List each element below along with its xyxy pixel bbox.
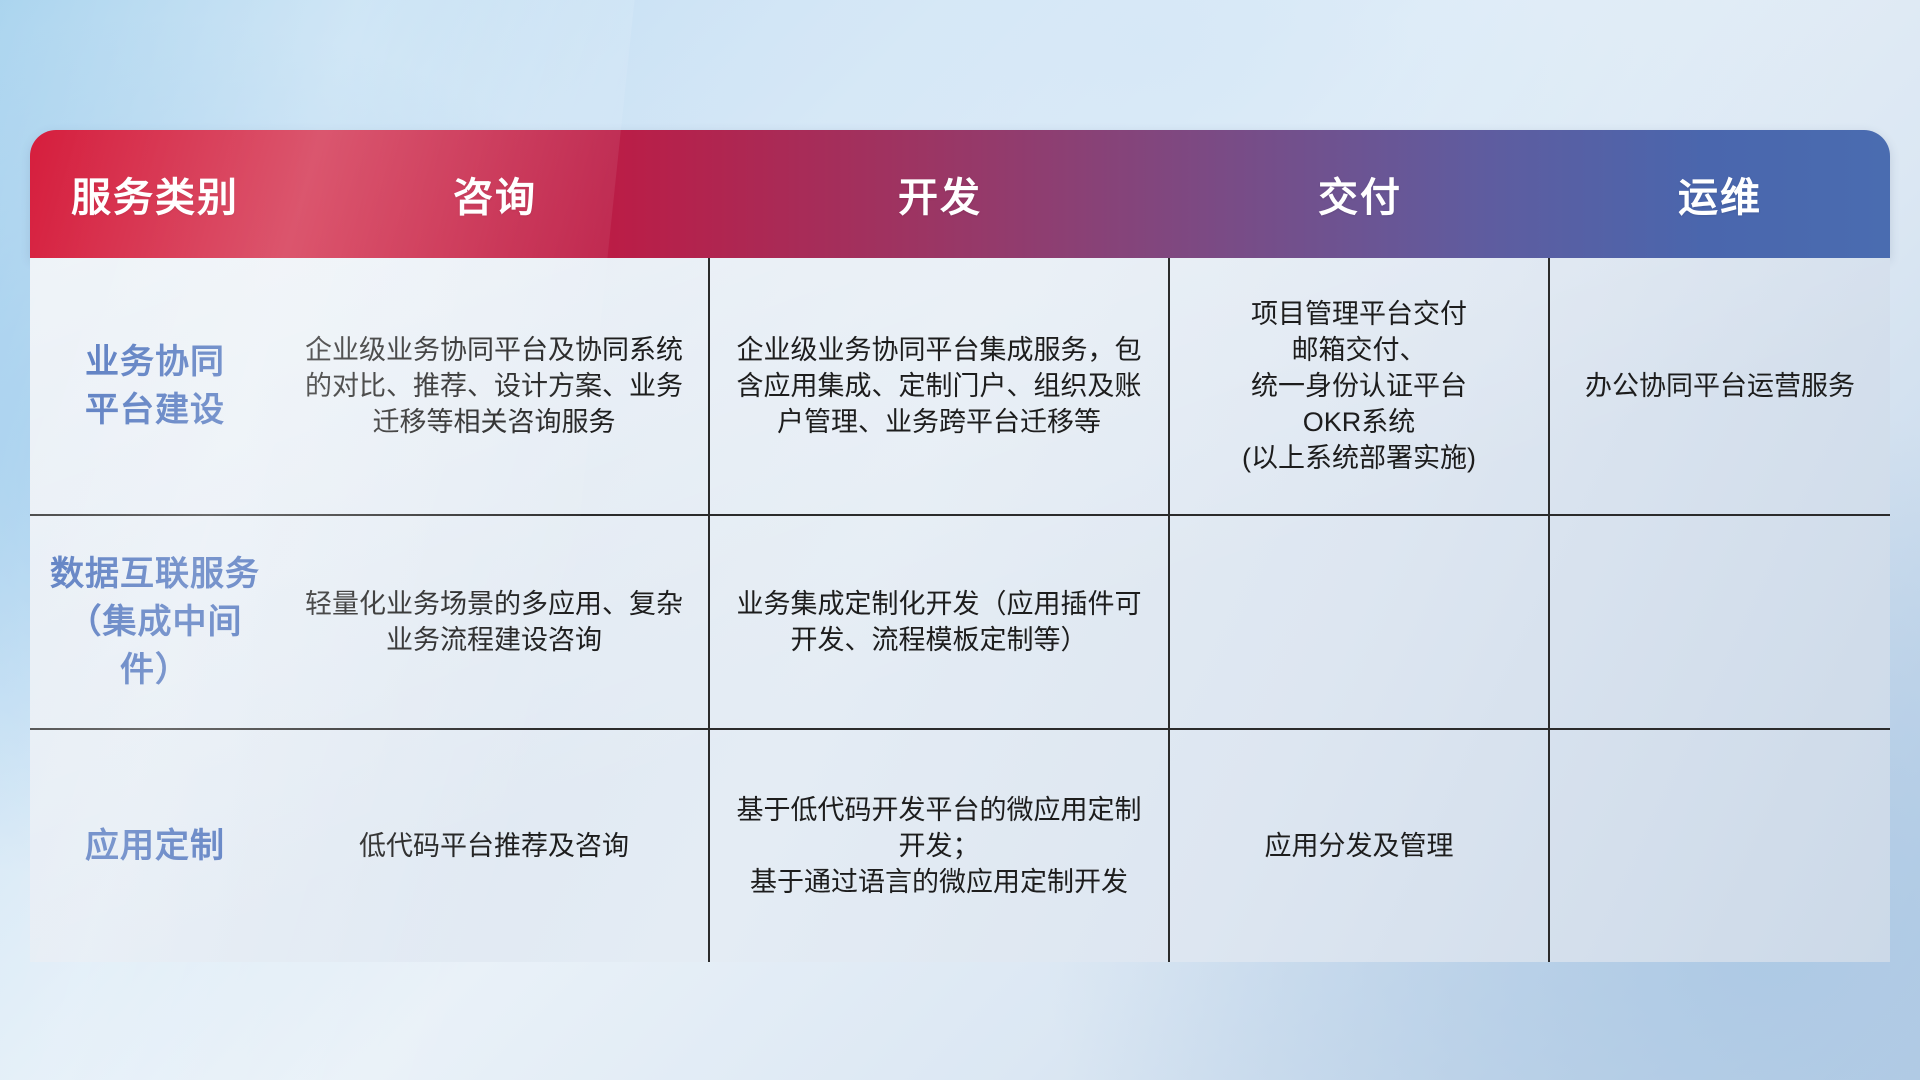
column-header-operations: 运维 (1550, 130, 1890, 258)
column-header-consulting: 咨询 (280, 130, 710, 258)
cell-operations: 办公协同平台运营服务 (1550, 258, 1890, 514)
cell-consulting: 轻量化业务场景的多应用、复杂业务流程建设咨询 (280, 516, 710, 728)
cell-consulting: 企业级业务协同平台及协同系统的对比、推荐、设计方案、业务迁移等相关咨询服务 (280, 258, 710, 514)
service-matrix-table: 服务类别 咨询 开发 交付 运维 业务协同 平台建设 企业级业务协同平台及协同系… (30, 130, 1890, 962)
table-header-row: 服务类别 咨询 开发 交付 运维 (30, 130, 1890, 258)
cell-development: 企业级业务协同平台集成服务，包含应用集成、定制门户、组织及账户管理、业务跨平台迁… (710, 258, 1170, 514)
column-header-development: 开发 (710, 130, 1170, 258)
table-body: 业务协同 平台建设 企业级业务协同平台及协同系统的对比、推荐、设计方案、业务迁移… (30, 258, 1890, 962)
cell-delivery (1170, 516, 1550, 728)
cell-development: 业务集成定制化开发（应用插件可开发、流程模板定制等） (710, 516, 1170, 728)
cell-delivery: 项目管理平台交付 邮箱交付、 统一身份认证平台 OKR系统 (以上系统部署实施) (1170, 258, 1550, 514)
row-category-label: 数据互联服务 （集成中间件） (30, 516, 280, 728)
cell-delivery: 应用分发及管理 (1170, 730, 1550, 962)
cell-operations (1550, 730, 1890, 962)
table-row: 数据互联服务 （集成中间件） 轻量化业务场景的多应用、复杂业务流程建设咨询 业务… (30, 516, 1890, 730)
cell-development: 基于低代码开发平台的微应用定制开发； 基于通过语言的微应用定制开发 (710, 730, 1170, 962)
row-category-label: 应用定制 (30, 730, 280, 962)
table-row: 应用定制 低代码平台推荐及咨询 基于低代码开发平台的微应用定制开发； 基于通过语… (30, 730, 1890, 962)
row-category-label: 业务协同 平台建设 (30, 258, 280, 514)
cell-consulting: 低代码平台推荐及咨询 (280, 730, 710, 962)
column-header-category: 服务类别 (30, 130, 280, 258)
table-row: 业务协同 平台建设 企业级业务协同平台及协同系统的对比、推荐、设计方案、业务迁移… (30, 258, 1890, 516)
cell-operations (1550, 516, 1890, 728)
column-header-delivery: 交付 (1170, 130, 1550, 258)
slide-background: 服务类别 咨询 开发 交付 运维 业务协同 平台建设 企业级业务协同平台及协同系… (0, 0, 1920, 1080)
